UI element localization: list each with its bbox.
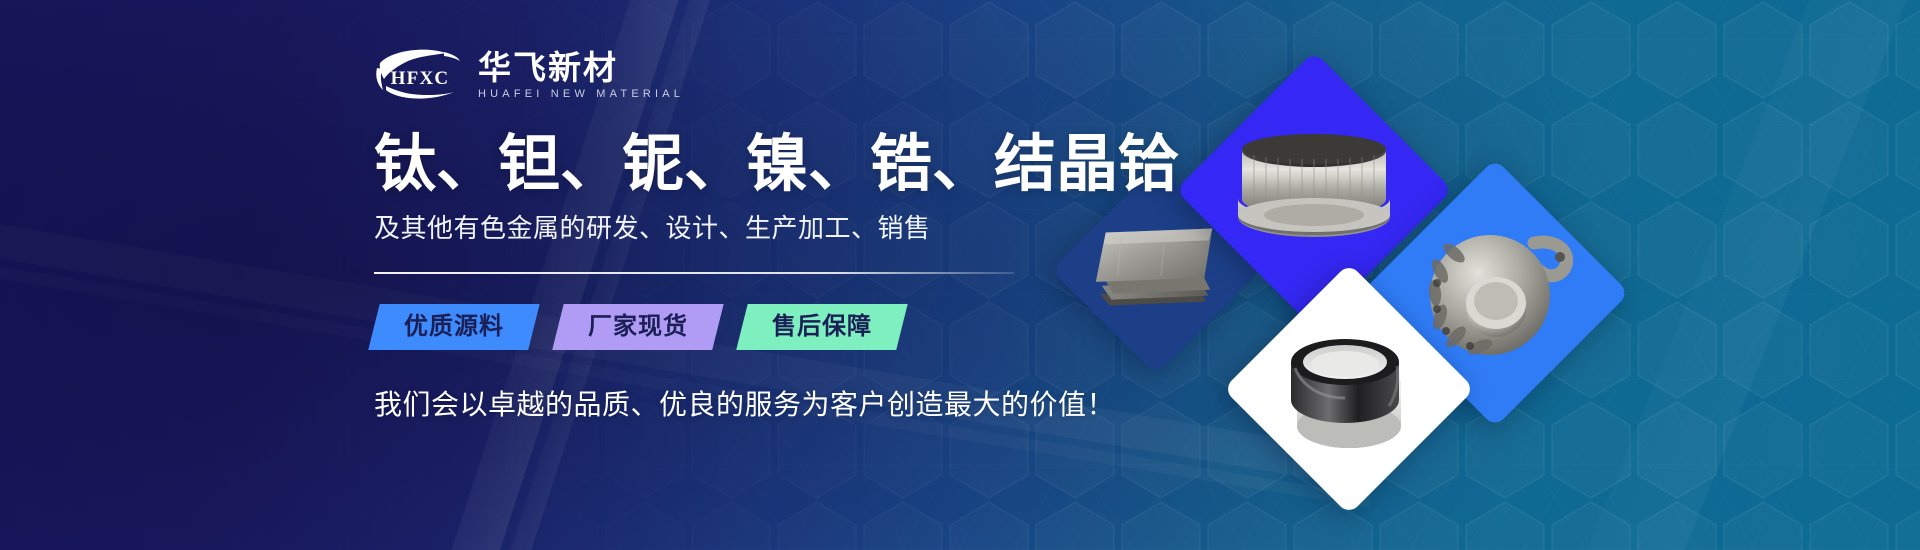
- svg-text:HFXC: HFXC: [391, 68, 450, 89]
- promo-banner: HFXC 华飞新材 HUAFEI NEW MATERIAL 钛、钽、铌、镍、锆、…: [0, 0, 1920, 550]
- feature-badge-label: 优质源料: [404, 313, 504, 341]
- horizontal-divider: [374, 272, 1014, 274]
- banner-subtitle: 及其他有色金属的研发、设计、生产加工、销售: [374, 212, 1174, 246]
- swoosh-icon: HFXC: [374, 46, 466, 104]
- metal-foil-roll-icon: [1260, 300, 1438, 478]
- logo-wordmark: 华飞新材 HUAFEI NEW MATERIAL: [478, 51, 684, 100]
- company-logo[interactable]: HFXC 华飞新材 HUAFEI NEW MATERIAL: [374, 46, 1174, 104]
- feature-badge-after-sales[interactable]: 售后保障: [736, 304, 907, 350]
- banner-headline: 钛、钽、铌、镍、锆、结晶铪: [374, 132, 1174, 198]
- feature-badge-list: 优质源料 厂家现货 售后保障: [374, 304, 1174, 350]
- banner-content: HFXC 华飞新材 HUAFEI NEW MATERIAL 钛、钽、铌、镍、锆、…: [374, 46, 1174, 424]
- logo-company-name-cn: 华飞新材: [478, 53, 684, 86]
- wire-spool-icon: [1216, 92, 1412, 288]
- feature-badge-label: 厂家现货: [588, 313, 688, 341]
- feature-badge-quality-material[interactable]: 优质源料: [368, 304, 539, 350]
- feature-badge-label: 售后保障: [772, 313, 872, 341]
- product-image-collage: [1060, 0, 1920, 550]
- logo-company-name-en: HUAFEI NEW MATERIAL: [478, 89, 684, 100]
- feature-badge-factory-stock[interactable]: 厂家现货: [552, 304, 723, 350]
- banner-tagline: 我们会以卓越的品质、优良的服务为客户创造最大的价值！: [374, 387, 1174, 423]
